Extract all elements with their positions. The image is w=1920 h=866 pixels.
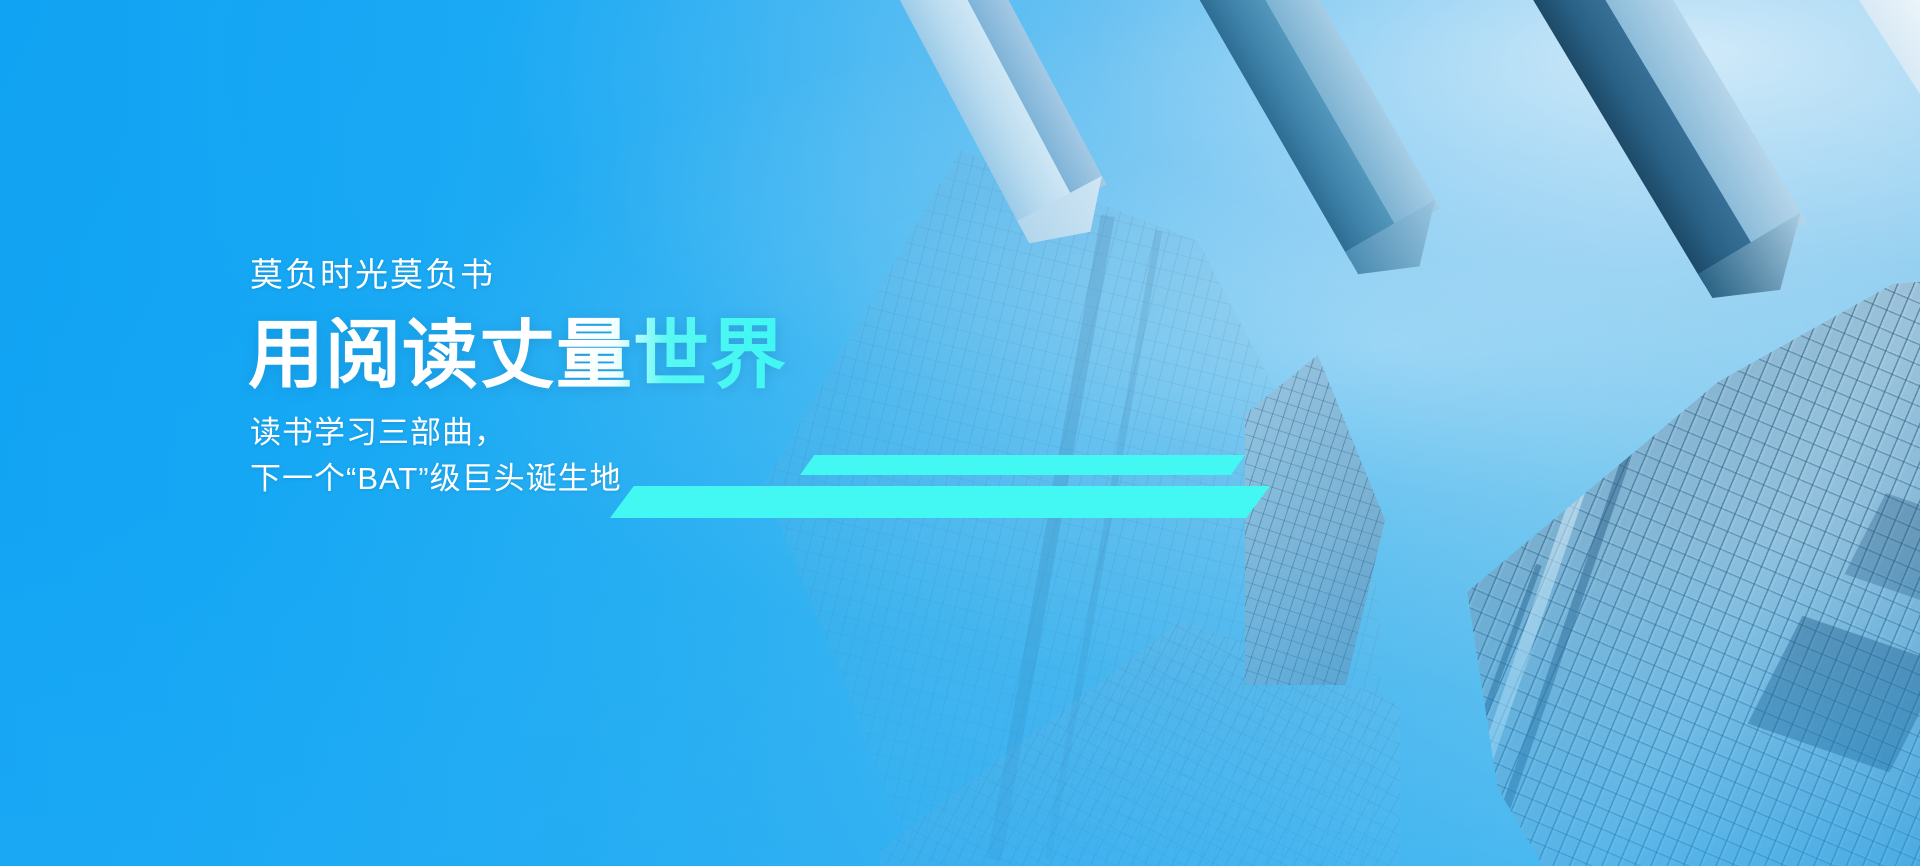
banner-subtitle-line-1: 读书学习三部曲， bbox=[250, 411, 968, 455]
banner-eyebrow: 莫负时光莫负书 bbox=[250, 258, 968, 291]
banner-copy-block: 莫负时光莫负书 用阅读丈量世界 读书学习三部曲， 下一个“BAT”级巨头诞生地 bbox=[248, 258, 968, 503]
banner-headline: 用阅读丈量世界 bbox=[248, 317, 968, 395]
banner-subtitle-line-2: 下一个“BAT”级巨头诞生地 bbox=[250, 457, 968, 501]
hero-banner: 莫负时光莫负书 用阅读丈量世界 读书学习三部曲， 下一个“BAT”级巨头诞生地 bbox=[0, 0, 1920, 866]
